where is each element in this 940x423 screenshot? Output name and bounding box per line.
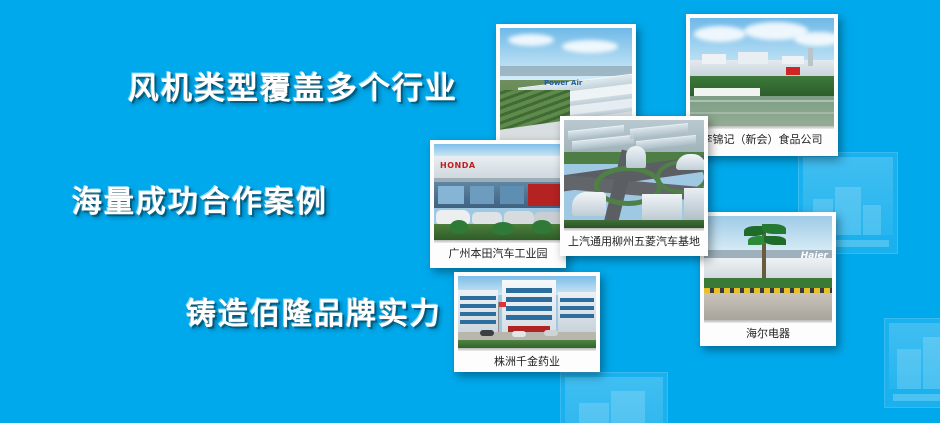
photo-card-likumkee[interactable]: 李锦记（新会）食品公司	[686, 14, 838, 156]
promo-banner: 风机类型覆盖多个行业 海量成功合作案例 铸造佰隆品牌实力 Power Air	[0, 0, 940, 423]
background-watermark-card	[884, 318, 940, 408]
photo-card-qianjin-pharma[interactable]: 株洲千金药业	[454, 272, 600, 372]
photo-honda-dealership: HONDA	[434, 144, 562, 240]
photo-caption: 株洲千金药业	[458, 351, 596, 372]
photo-caption: 海尔电器	[704, 323, 832, 345]
honda-logo: HONDA	[440, 162, 476, 170]
photo-caption: 上汽通用柳州五菱汽车基地	[564, 231, 704, 253]
headline-tertiary: 铸造佰隆品牌实力	[186, 300, 442, 330]
photo-caption: 李锦记（新会）食品公司	[690, 129, 834, 151]
background-watermark-card	[560, 372, 668, 423]
photo-haier-factory: Haier	[704, 216, 832, 320]
watermark-photo	[565, 377, 663, 423]
photo-wuling-industrial-park	[564, 120, 704, 228]
headline-secondary: 海量成功合作案例	[72, 188, 328, 218]
watermark-caption-bar	[893, 394, 940, 401]
photo-pharma-office-building	[458, 276, 596, 348]
photo-card-wuling[interactable]: 上汽通用柳州五菱汽车基地	[560, 116, 708, 256]
photo-caption: 广州本田汽车工业园	[434, 243, 562, 265]
haier-logo: Haier	[801, 252, 828, 261]
headline-primary: 风机类型覆盖多个行业	[128, 74, 458, 105]
photo-card-haier[interactable]: Haier 海尔电器	[700, 212, 836, 346]
watermark-photo	[889, 323, 940, 389]
roof-logo: Power Air	[544, 80, 582, 87]
photo-card-honda[interactable]: HONDA 广州本田汽车工业园	[430, 140, 566, 268]
photo-likumkee-factory	[690, 18, 834, 126]
